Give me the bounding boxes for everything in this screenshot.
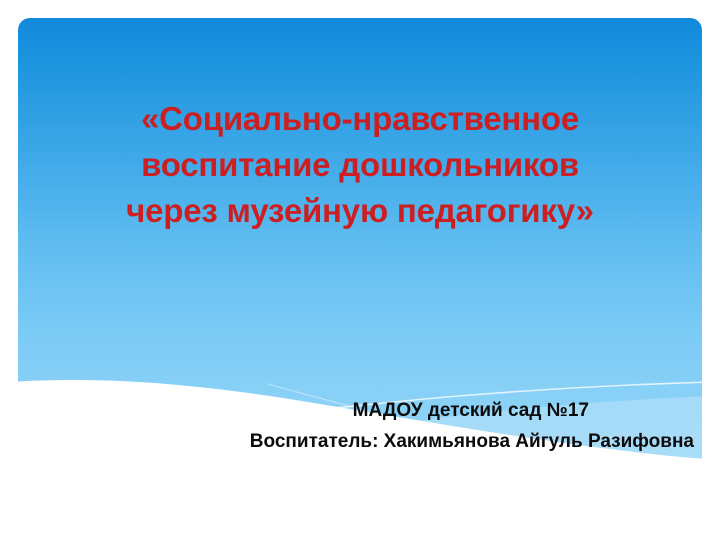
slide-title: «Социально-нравственное воспитание дошко… bbox=[0, 96, 720, 234]
subtitle-author: Воспитатель: Хакимьянова Айгуль Разифовн… bbox=[0, 426, 694, 458]
title-line-1: «Социально-нравственное bbox=[0, 96, 720, 142]
subtitle-organization: МАДОУ детский сад №17 bbox=[0, 396, 694, 426]
presentation-slide: «Социально-нравственное воспитание дошко… bbox=[0, 0, 720, 540]
title-line-2: воспитание дошкольников bbox=[0, 142, 720, 188]
slide-subtitle: МАДОУ детский сад №17 Воспитатель: Хаким… bbox=[0, 396, 720, 458]
title-line-3: через музейную педагогику» bbox=[0, 188, 720, 234]
